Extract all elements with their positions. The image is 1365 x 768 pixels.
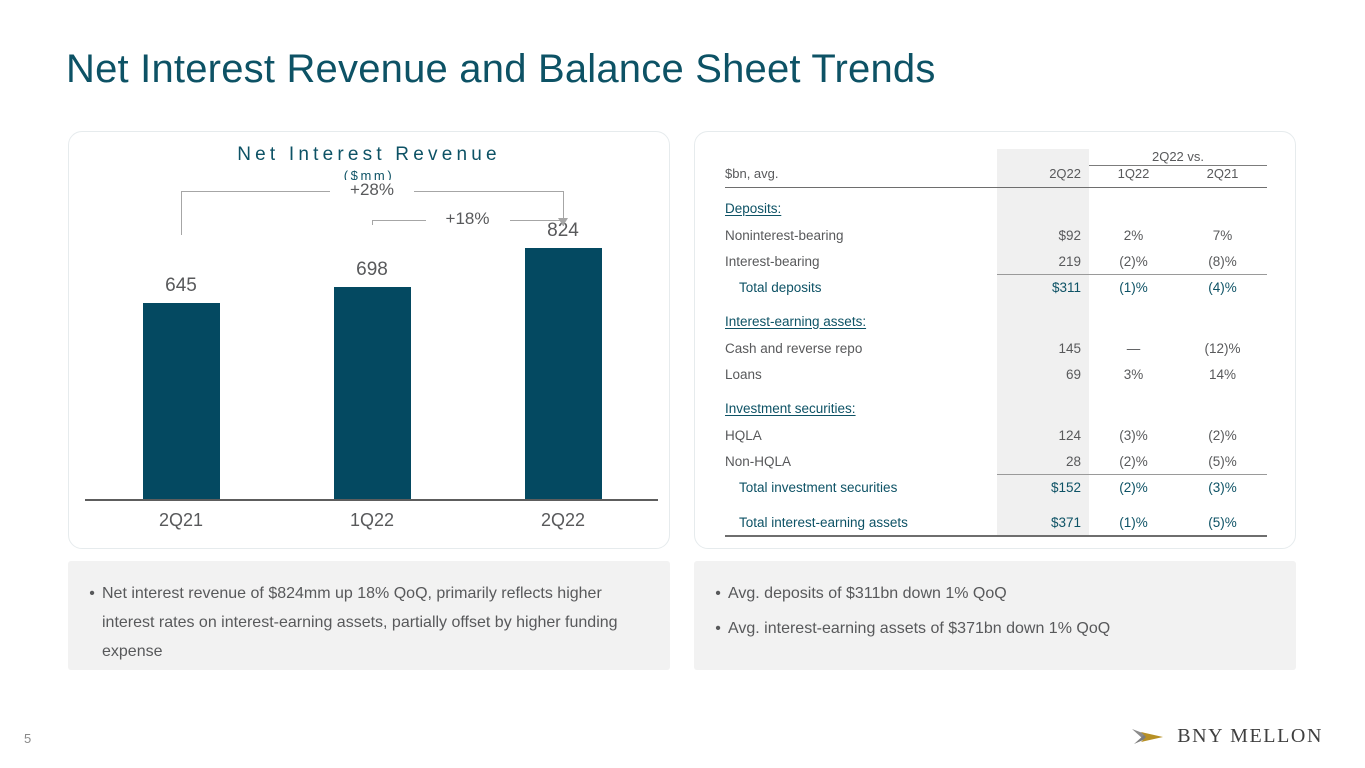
section-pad-v2-2 [1089,388,1178,423]
annotation-label-18: +18% [426,209,510,229]
page-title: Net Interest Revenue and Balance Sheet T… [66,47,936,92]
row-value-1Q22: (2)% [1089,449,1178,475]
bullet-dot-icon: • [82,579,102,666]
chart-card: Net Interest Revenue ($mm) 6452Q216981Q2… [68,131,670,549]
bar-value-2Q21: 645 [131,275,231,297]
table-col-header-2Q22: 2Q22 [997,166,1089,185]
span-header-pad-v1 [997,149,1089,166]
table-row: Total investment securities$152(2)%(3)% [725,475,1267,501]
table-card: 2Q22 vs.$bn, avg.2Q221Q222Q21Deposits:No… [694,131,1296,549]
annotation-28-left-stem [181,191,182,235]
row-value-2Q22: 219 [997,249,1089,275]
table-header-row: $bn, avg.2Q221Q222Q21 [725,166,1267,185]
section-heading-text: Interest-earning assets: [725,314,866,329]
row-value-2Q21: (8)% [1178,249,1267,275]
bny-arrow-icon [1132,726,1166,748]
grand-total-2Q21: (5)% [1178,510,1267,536]
section-pad-v2-1 [1089,301,1178,336]
bullet-right-item: •Avg. deposits of $311bn down 1% QoQ [708,579,1272,608]
table-row: Cash and reverse repo145—(12)% [725,336,1267,362]
bullet-dot-icon: • [708,579,728,608]
bullet-left-item: •Net interest revenue of $824mm up 18% Q… [82,579,646,666]
table-bottom-rule [725,536,1267,539]
table-span-header: 2Q22 vs. [1089,149,1267,166]
table-row: Total deposits$311(1)%(4)% [725,275,1267,301]
category-label-1Q22: 1Q22 [312,510,432,531]
section-pad-v1-2 [997,388,1089,423]
section-heading-text: Deposits: [725,201,781,216]
row-value-2Q22: $152 [997,475,1089,501]
row-value-1Q22: (2)% [1089,249,1178,275]
table-row: Non-HQLA28(2)%(5)% [725,449,1267,475]
row-value-2Q22: $92 [997,223,1089,249]
end-v1 [997,536,1089,539]
financial-table-wrapper: 2Q22 vs.$bn, avg.2Q221Q222Q21Deposits:No… [725,149,1267,539]
bullet-right-text: Avg. interest-earning assets of $371bn d… [728,614,1272,643]
end-v3 [1178,536,1267,539]
gap-label [725,501,997,510]
row-value-1Q22: 2% [1089,223,1178,249]
page-number: 5 [24,731,31,746]
grand-total-label: Total interest-earning assets [725,510,997,536]
chart-axis [85,499,658,501]
table-unit-label: $bn, avg. [725,166,997,185]
table-row: Noninterest-bearing$922%7% [725,223,1267,249]
row-value-1Q22: — [1089,336,1178,362]
row-value-2Q21: (12)% [1178,336,1267,362]
slide: Net Interest Revenue and Balance Sheet T… [0,0,1365,768]
category-label-2Q21: 2Q21 [121,510,241,531]
financial-table: 2Q22 vs.$bn, avg.2Q221Q222Q21Deposits:No… [725,149,1267,539]
table-col-header-1Q22: 1Q22 [1089,166,1178,185]
gap-v1 [997,501,1089,510]
annotation-label-28: +28% [330,180,414,200]
bar-1Q22[interactable] [334,287,411,499]
bullet-right-text: Avg. deposits of $311bn down 1% QoQ [728,579,1272,608]
section-pad-v1-0 [997,187,1089,223]
row-value-1Q22: 3% [1089,362,1178,388]
table-section-label-2: Investment securities: [725,388,997,423]
row-value-2Q21: (4)% [1178,275,1267,301]
bullet-dot-icon: • [708,614,728,643]
row-value-2Q21: 7% [1178,223,1267,249]
row-label: Total investment securities [725,475,997,501]
row-value-2Q22: 145 [997,336,1089,362]
section-pad-v3-1 [1178,301,1267,336]
table-row: HQLA124(3)%(2)% [725,423,1267,449]
span-header-pad-label [725,149,997,166]
grand-total-1Q22: (1)% [1089,510,1178,536]
end-label [725,536,997,539]
row-value-2Q21: 14% [1178,362,1267,388]
row-value-2Q21: (5)% [1178,449,1267,475]
section-pad-v3-2 [1178,388,1267,423]
bullets-right: •Avg. deposits of $311bn down 1% QoQ•Avg… [694,561,1296,670]
bullet-left-text: Net interest revenue of $824mm up 18% Qo… [102,579,646,666]
row-value-2Q21: (2)% [1178,423,1267,449]
bar-value-1Q22: 698 [322,259,422,281]
table-section-heading-2: Investment securities: [725,388,1267,423]
row-label: HQLA [725,423,997,449]
section-pad-v1-1 [997,301,1089,336]
grand-total-2Q22: $371 [997,510,1089,536]
table-grand-total-row: Total interest-earning assets$371(1)%(5)… [725,510,1267,536]
bullet-right-item: •Avg. interest-earning assets of $371bn … [708,614,1272,643]
row-label: Cash and reverse repo [725,336,997,362]
bar-2Q22[interactable] [525,248,602,499]
row-value-2Q21: (3)% [1178,475,1267,501]
brand-name: BNY MELLON [1177,725,1323,748]
category-label-2Q22: 2Q22 [503,510,623,531]
row-value-1Q22: (1)% [1089,275,1178,301]
row-value-1Q22: (3)% [1089,423,1178,449]
bullets-left: •Net interest revenue of $824mm up 18% Q… [68,561,670,670]
table-section-heading-0: Deposits: [725,187,1267,223]
bar-chart-plot: 6452Q216981Q228242Q22+28%+18% [69,132,671,550]
row-value-2Q22: $311 [997,275,1089,301]
table-section-label-1: Interest-earning assets: [725,301,997,336]
gap-v2 [1089,501,1178,510]
row-value-2Q22: 124 [997,423,1089,449]
table-row: Interest-bearing219(2)%(8)% [725,249,1267,275]
table-col-header-2Q21: 2Q21 [1178,166,1267,185]
row-value-2Q22: 28 [997,449,1089,475]
table-gap [725,501,1267,510]
row-value-2Q22: 69 [997,362,1089,388]
row-value-1Q22: (2)% [1089,475,1178,501]
section-pad-v3-0 [1178,187,1267,223]
section-pad-v2-0 [1089,187,1178,223]
gap-v3 [1178,501,1267,510]
row-label: Total deposits [725,275,997,301]
row-label: Non-HQLA [725,449,997,475]
row-label: Interest-bearing [725,249,997,275]
end-v2 [1089,536,1178,539]
row-label: Loans [725,362,997,388]
section-heading-text: Investment securities: [725,401,856,416]
brand-logo: BNY MELLON [1132,725,1323,748]
table-section-label-0: Deposits: [725,187,997,223]
row-label: Noninterest-bearing [725,223,997,249]
bar-2Q21[interactable] [143,303,220,499]
annotation-18-left-stem [372,220,373,225]
table-span-header-row: 2Q22 vs. [725,149,1267,166]
table-row: Loans693%14% [725,362,1267,388]
table-section-heading-1: Interest-earning assets: [725,301,1267,336]
